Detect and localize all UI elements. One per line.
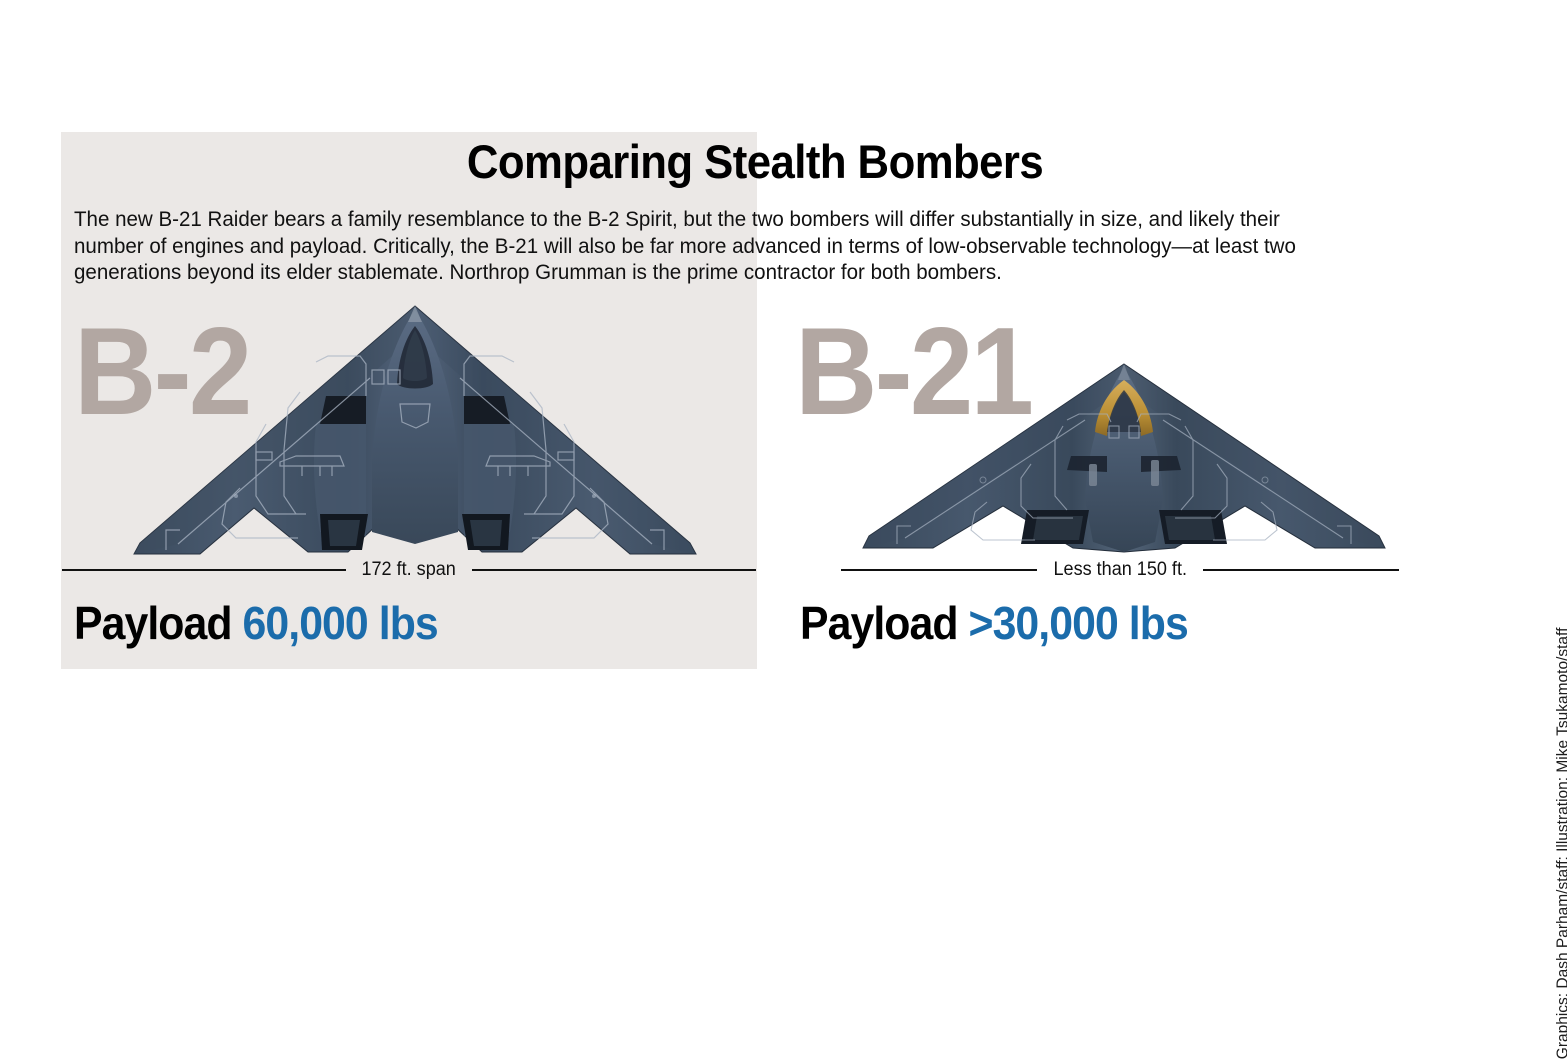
payload-label-b-2: Payload — [74, 597, 243, 649]
intro-paragraph: The new B-21 Raider bears a family resem… — [74, 206, 1354, 286]
aircraft-illustration-b-2 — [70, 300, 760, 562]
span-measure-b-21: Less than 150 ft. — [841, 559, 1399, 581]
span-label-b-2: 172 ft. span — [349, 560, 468, 580]
payload-value-b-21: >30,000 lbs — [969, 597, 1188, 649]
aircraft-illustration-b-21 — [845, 360, 1403, 556]
payload-b-2: Payload 60,000 lbs — [74, 598, 438, 648]
credit-line: Graphics: Dash Parham/staff; Illustratio… — [1555, 628, 1567, 1059]
payload-b-21: Payload >30,000 lbs — [800, 598, 1188, 648]
page-title: Comparing Stealth Bombers — [53, 136, 1457, 188]
span-label-b-21: Less than 150 ft. — [1041, 560, 1199, 580]
span-rule-right — [472, 569, 756, 571]
payload-value-b-2: 60,000 lbs — [243, 597, 438, 649]
span-rule-left — [841, 569, 1037, 571]
payload-label-b-21: Payload — [800, 597, 969, 649]
span-rule-left — [62, 569, 346, 571]
span-rule-right — [1203, 569, 1399, 571]
span-measure-b-2: 172 ft. span — [62, 559, 756, 581]
